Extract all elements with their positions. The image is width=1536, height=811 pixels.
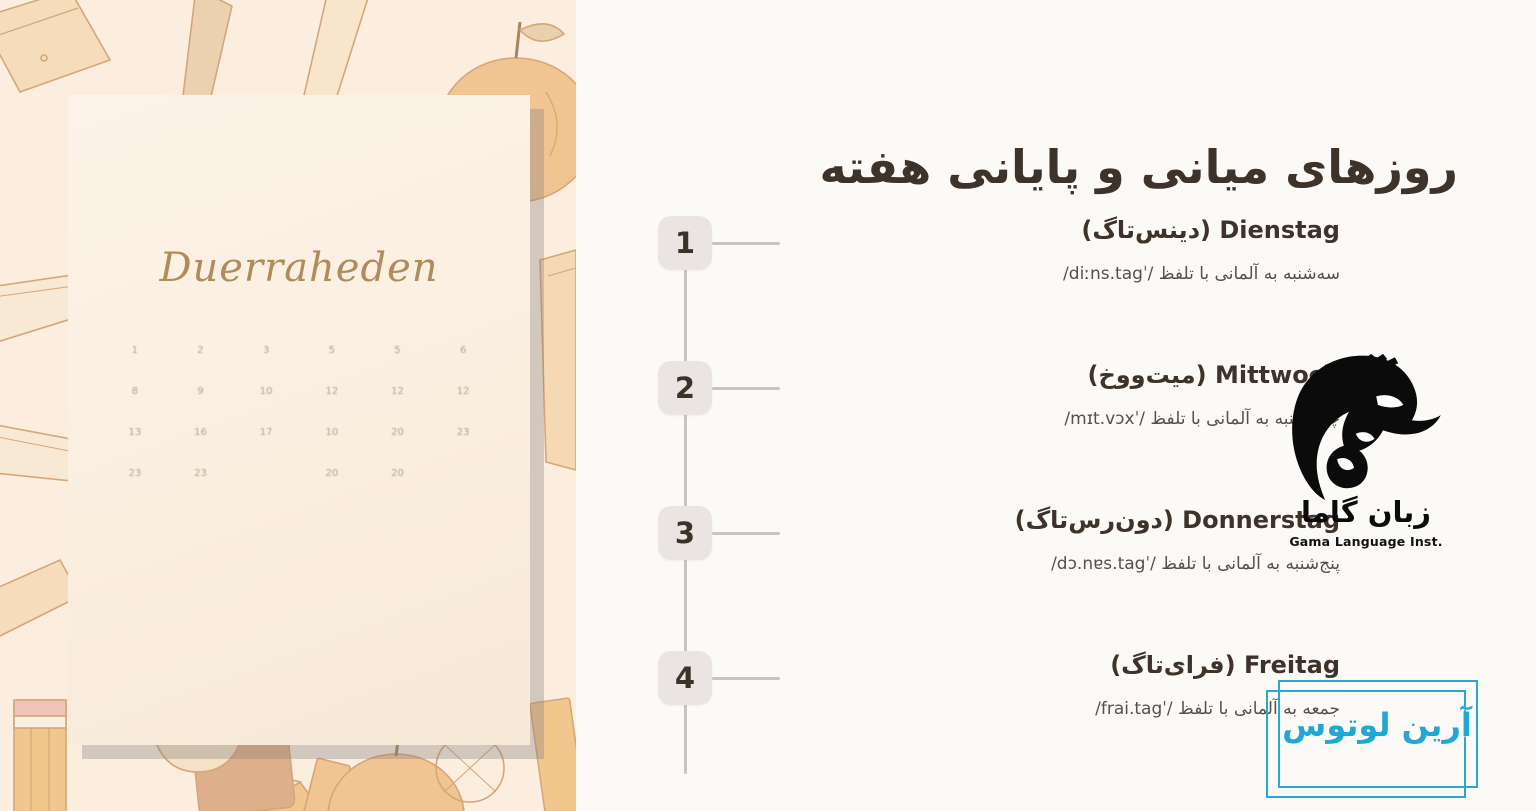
step-number-badge: 1: [658, 216, 712, 270]
calendar-day-cell: 16: [168, 427, 234, 438]
calendar-day-cell: 8: [102, 386, 168, 397]
arian-lotus-watermark: آرین لوتوس: [1266, 672, 1488, 790]
step-number-badge: 4: [658, 651, 712, 705]
step-number-badge: 2: [658, 361, 712, 415]
calendar-number-grid: 123556891012121213161710202323232020: [102, 345, 496, 479]
page-title: روزهای میانی و پایانی هفته: [636, 139, 1458, 197]
list-item-subtitle: جمعه به آلمانی با تلفظ /ˈfrai.tag/: [780, 697, 1340, 722]
gama-logo-name-fa: زبان گاما: [1301, 498, 1431, 527]
calendar-day-cell: 12: [299, 386, 365, 397]
spartan-helmet-icon: [1281, 352, 1451, 502]
gama-logo-name-en: Gama Language Inst.: [1289, 534, 1442, 549]
calendar-day-cell: 9: [168, 386, 234, 397]
calendar-day-cell: 23: [430, 427, 496, 438]
list-item-title: Freitag (فرای‌تاگ): [780, 649, 1340, 681]
calendar-day-cell: 10: [233, 386, 299, 397]
gama-logo: زبان گاما Gama Language Inst.: [1255, 352, 1477, 574]
timeline-connector: [712, 242, 780, 245]
calendar-day-cell: 10: [299, 427, 365, 438]
calendar-day-cell: 5: [299, 345, 365, 356]
calendar-day-cell: 17: [233, 427, 299, 438]
calendar-day-cell: 20: [365, 427, 431, 438]
calendar-day-cell: 23: [102, 468, 168, 479]
calendar-day-cell: 1: [102, 345, 168, 356]
left-image-panel: Duerraheden 1235568910121212131617102023…: [0, 0, 576, 811]
calendar-day-cell: 2: [168, 345, 234, 356]
calendar-day-cell: 5: [365, 345, 431, 356]
calendar-day-cell: 20: [365, 468, 431, 479]
calendar-photo-card: Duerraheden 1235568910121212131617102023…: [68, 95, 530, 745]
list-item-text: Freitag (فرای‌تاگ) جمعه به آلمانی با تلف…: [780, 649, 1340, 722]
calendar-day-cell: 13: [102, 427, 168, 438]
slide-root: Duerraheden 1235568910121212131617102023…: [0, 0, 1536, 811]
card-script-title: Duerraheden: [68, 245, 530, 291]
timeline-connector: [712, 532, 780, 535]
timeline-connector: [712, 677, 780, 680]
calendar-day-cell: 12: [430, 386, 496, 397]
timeline-connector: [712, 387, 780, 390]
calendar-day-cell: 23: [168, 468, 234, 479]
calendar-day-cell: 3: [233, 345, 299, 356]
calendar-day-cell: 6: [430, 345, 496, 356]
step-number-badge: 3: [658, 506, 712, 560]
watermark-text: آرین لوتوس: [1266, 706, 1488, 744]
list-item-subtitle: سه‌شنبه به آلمانی با تلفظ /ˈdiːns.tag/: [780, 262, 1340, 287]
calendar-day-cell: 12: [365, 386, 431, 397]
right-content-panel: روزهای میانی و پایانی هفته 1 Dienstag (د…: [576, 0, 1536, 811]
calendar-day-cell: 20: [299, 468, 365, 479]
list-item-title: Dienstag (دینس‌تاگ): [780, 214, 1340, 246]
list-item-text: Dienstag (دینس‌تاگ) سه‌شنبه به آلمانی با…: [780, 214, 1340, 287]
